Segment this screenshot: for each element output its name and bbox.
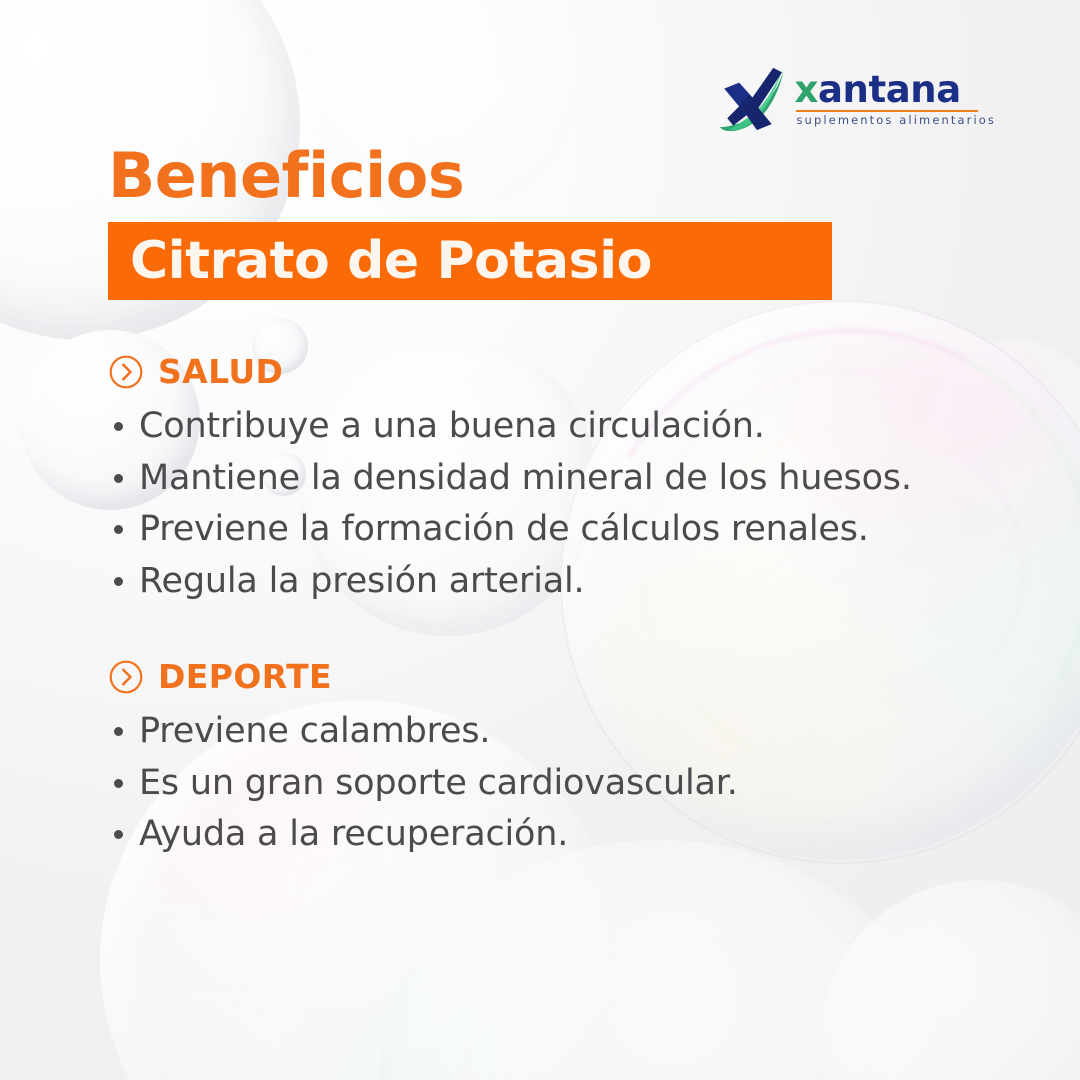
- x-swoosh-logo-icon: [714, 62, 788, 136]
- section-salud: SALUD Contribuye a una buena circulación…: [108, 352, 912, 607]
- section-salud-list: Contribuye a una buena circulación. Mant…: [108, 401, 912, 607]
- list-item-text: Mantiene la densidad mineral de los hues…: [139, 455, 912, 503]
- list-item-text: Previene calambres.: [139, 708, 490, 756]
- bullet-dot-icon: [114, 779, 123, 788]
- list-item: Ayuda a la recuperación.: [114, 809, 738, 861]
- section-salud-header: SALUD: [108, 352, 912, 391]
- bullet-dot-icon: [114, 727, 123, 736]
- bullet-dot-icon: [114, 422, 123, 431]
- section-deporte: DEPORTE Previene calambres. Es un gran s…: [108, 657, 738, 861]
- bubble-decor: [930, 340, 1080, 510]
- bullet-dot-icon: [114, 577, 123, 586]
- brand-logo: xantana suplementos alimentarios: [714, 62, 996, 136]
- list-item-text: Contribuye a una buena circulación.: [139, 403, 765, 451]
- section-salud-title: SALUD: [158, 352, 283, 391]
- benefits-poster: xantana suplementos alimentarios Benefic…: [0, 0, 1080, 1080]
- list-item: Previene calambres.: [114, 706, 738, 758]
- logo-wordmark-x: x: [794, 68, 817, 111]
- bubble-decor: [380, 840, 940, 1080]
- list-item: Contribuye a una buena circulación.: [114, 401, 912, 453]
- logo-tagline: suplementos alimentarios: [794, 115, 996, 127]
- bullet-dot-icon: [114, 830, 123, 839]
- list-item: Es un gran soporte cardiovascular.: [114, 758, 738, 810]
- bubble-decor: [820, 880, 1080, 1080]
- bullet-dot-icon: [114, 474, 123, 483]
- product-title-banner: Citrato de Potasio: [108, 222, 832, 300]
- logo-wordmark: xantana: [794, 71, 996, 108]
- section-deporte-header: DEPORTE: [108, 657, 738, 696]
- chevron-right-circle-icon: [108, 659, 144, 695]
- list-item: Mantiene la densidad mineral de los hues…: [114, 453, 912, 505]
- page-kicker: Beneficios: [108, 139, 464, 212]
- section-deporte-list: Previene calambres. Es un gran soporte c…: [108, 706, 738, 861]
- list-item-text: Previene la formación de cálculos renale…: [139, 506, 869, 554]
- list-item-text: Es un gran soporte cardiovascular.: [139, 760, 738, 808]
- product-title: Citrato de Potasio: [130, 231, 652, 291]
- logo-wordmark-rest: antana: [818, 68, 961, 111]
- list-item-text: Ayuda a la recuperación.: [139, 811, 568, 859]
- logo-text: xantana suplementos alimentarios: [794, 71, 996, 127]
- list-item: Previene la formación de cálculos renale…: [114, 504, 912, 556]
- chevron-right-circle-icon: [108, 354, 144, 390]
- logo-underline: [796, 110, 978, 112]
- bullet-dot-icon: [114, 525, 123, 534]
- section-deporte-title: DEPORTE: [158, 657, 332, 696]
- list-item: Regula la presión arterial.: [114, 556, 912, 608]
- list-item-text: Regula la presión arterial.: [139, 558, 584, 606]
